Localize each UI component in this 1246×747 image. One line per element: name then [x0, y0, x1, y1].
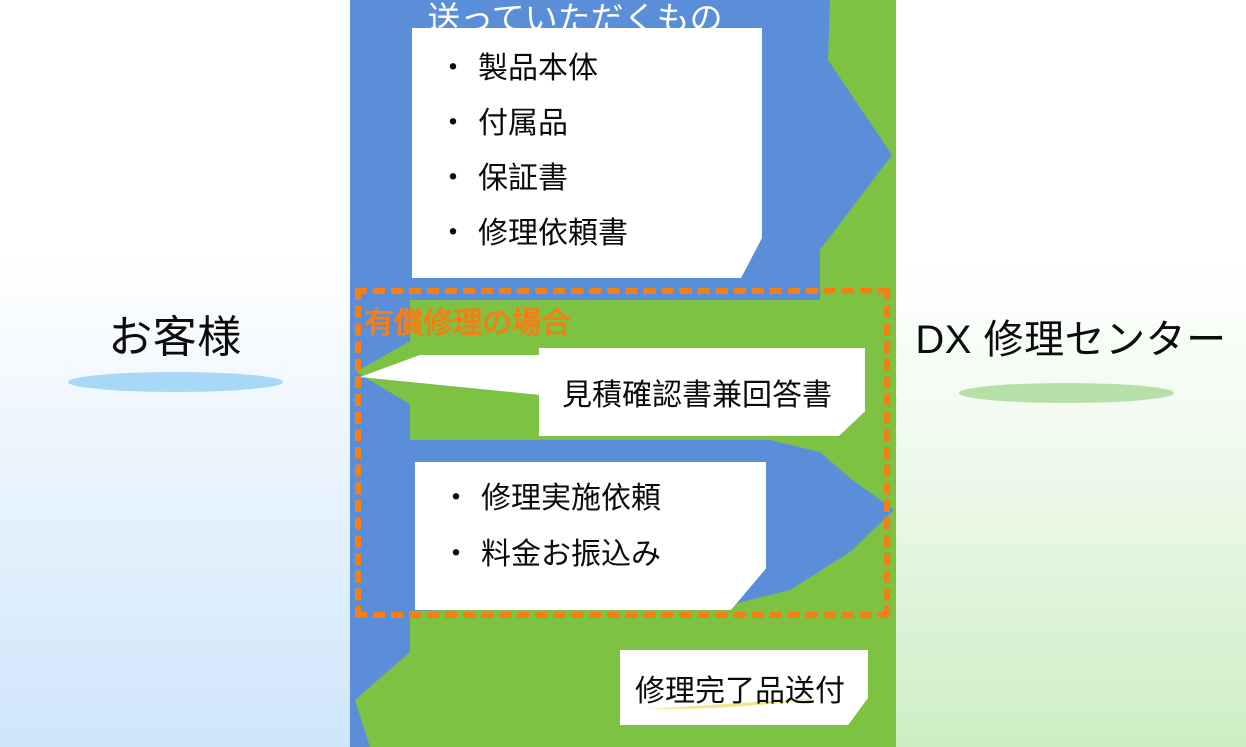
list-item: ・料金お振込み [441, 540, 766, 570]
bullet-icon: ・ [441, 538, 471, 571]
list-item-label: 修理依頼書 [478, 217, 628, 250]
repair-flow-diagram: お客様 DX 修理センター ・製品本体 ・付属品 ・保証書 ・修理依頼書 送って… [0, 0, 1246, 747]
list-item-label: 料金お振込み [481, 538, 661, 571]
list-item-label: 付属品 [478, 107, 568, 140]
list-item: ・製品本体 [438, 54, 762, 84]
list-item: ・保証書 [438, 164, 762, 194]
send-items-list: ・製品本体 ・付属品 ・保証書 ・修理依頼書 [412, 28, 762, 249]
list-item-label: 修理実施依頼 [481, 482, 661, 515]
bullet-icon: ・ [438, 217, 468, 250]
repair-delivery-label: 修理完了品送付 [635, 666, 853, 710]
list-item-label: 保証書 [478, 162, 568, 195]
repair-request-list: ・修理実施依頼 ・料金お振込み [415, 462, 766, 570]
customer-label: お客様 [0, 316, 350, 360]
repair-delivery-box: 修理完了品送付 [620, 650, 868, 725]
list-item: ・付属品 [438, 109, 762, 139]
bullet-icon: ・ [438, 162, 468, 195]
customer-shadow-ellipse [68, 372, 283, 392]
service-shadow-ellipse [959, 383, 1174, 403]
estimate-confirmation-box: 見積確認書兼回答書 [539, 348, 865, 436]
send-items-title: 送っていただくもの [412, 2, 738, 35]
bullet-icon: ・ [438, 52, 468, 85]
list-item: ・修理実施依頼 [441, 484, 766, 514]
bullet-icon: ・ [438, 107, 468, 140]
bullet-icon: ・ [441, 482, 471, 515]
customer-panel: お客様 [0, 0, 350, 747]
paid-repair-label: 有償修理の場合 [364, 298, 571, 342]
service-center-label: DX 修理センター [896, 320, 1246, 360]
estimate-confirmation-label: 見積確認書兼回答書 [562, 370, 842, 414]
send-items-box: ・製品本体 ・付属品 ・保証書 ・修理依頼書 [412, 28, 762, 278]
list-item-label: 製品本体 [478, 52, 598, 85]
service-center-panel: DX 修理センター [896, 0, 1246, 747]
repair-request-box: ・修理実施依頼 ・料金お振込み [415, 462, 766, 610]
list-item: ・修理依頼書 [438, 219, 762, 249]
